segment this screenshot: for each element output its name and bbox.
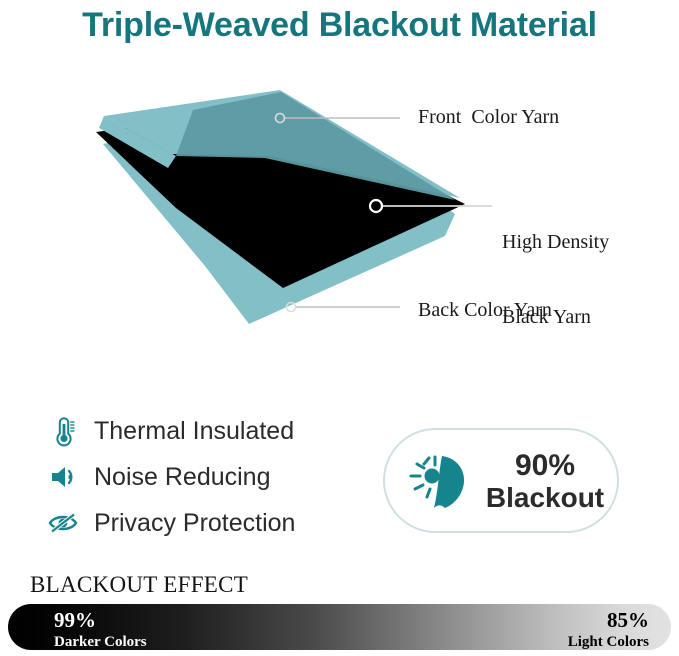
- leader-back: [287, 303, 401, 312]
- label-high-density-black-yarn: High Density Black Yarn: [502, 180, 609, 380]
- label-front-color-yarn: Front Color Yarn: [418, 105, 559, 130]
- bar-right-group: 85% Light Colors: [568, 610, 649, 650]
- sun-blocked-curtain-icon: [403, 446, 483, 516]
- bar-right-percent: 85%: [568, 610, 649, 631]
- blackout-effect-gradient-bar: 99% Darker Colors 85% Light Colors: [8, 604, 671, 650]
- bar-left-caption: Darker Colors: [54, 633, 147, 650]
- bar-left-percent: 99%: [54, 610, 147, 631]
- feature-label: Thermal Insulated: [94, 417, 294, 446]
- badge-word: Blackout: [483, 482, 607, 513]
- infographic-page: Triple-Weaved Blackout Material: [0, 0, 679, 656]
- page-title: Triple-Weaved Blackout Material: [0, 0, 679, 52]
- feature-thermal-insulated: Thermal Insulated: [44, 408, 374, 454]
- eye-slash-icon: [44, 504, 84, 542]
- badge-percent: 90%: [515, 449, 575, 482]
- label-line-1: High Density: [502, 230, 609, 255]
- thermometer-icon: [44, 412, 84, 450]
- blackout-badge: 90% Blackout: [383, 428, 619, 533]
- feature-noise-reducing: Noise Reducing: [44, 454, 374, 500]
- bar-right-caption: Light Colors: [568, 633, 649, 650]
- feature-list: Thermal Insulated Noise Reducing: [44, 408, 374, 546]
- speaker-sound-icon: [44, 458, 84, 496]
- feature-privacy-protection: Privacy Protection: [44, 500, 374, 546]
- blackout-effect-heading: BLACKOUT EFFECT: [30, 572, 248, 598]
- label-back-color-yarn: Back Color Yarn: [418, 298, 552, 323]
- feature-label: Privacy Protection: [94, 509, 295, 538]
- bar-left-group: 99% Darker Colors: [54, 610, 147, 650]
- badge-text-group: 90% Blackout: [483, 449, 617, 513]
- feature-label: Noise Reducing: [94, 463, 271, 492]
